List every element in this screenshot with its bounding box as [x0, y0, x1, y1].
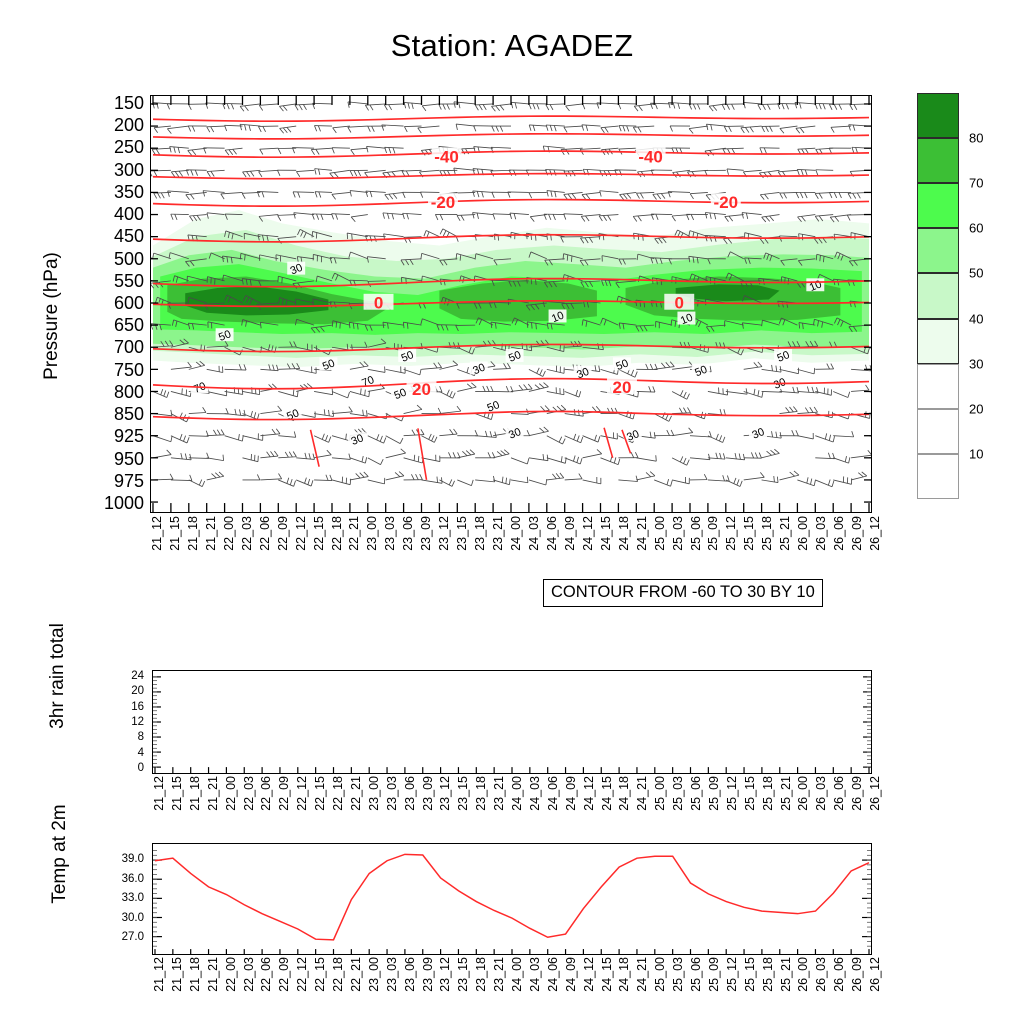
temp-y-axis-label: Temp at 2m — [49, 744, 71, 964]
x-tick-label: 22_21 — [349, 776, 363, 811]
x-tick-label: 26_00 — [796, 776, 810, 811]
main-y-axis-ticks: 1502002503003504004505005506006507007508… — [98, 95, 144, 513]
colorbar-tick: 30 — [969, 356, 983, 371]
x-tick-label: 24_00 — [510, 957, 524, 992]
x-tick-label: 23_00 — [367, 776, 381, 811]
x-tick-label: 25_00 — [653, 776, 667, 811]
rain-y-axis-ticks: 24201612840 — [100, 670, 148, 774]
svg-text:-40: -40 — [434, 147, 458, 166]
x-tick-label: 25_03 — [671, 516, 685, 551]
rain-y-tick: 8 — [138, 731, 144, 743]
page-title: Station: AGADEZ — [0, 28, 1024, 64]
x-tick-label: 23_09 — [421, 957, 435, 992]
x-tick-label: 21_15 — [170, 957, 184, 992]
x-tick-label: 23_15 — [456, 957, 470, 992]
svg-text:-40: -40 — [638, 147, 662, 166]
x-tick-label: 24_15 — [599, 516, 613, 551]
rain-y-tick: 20 — [131, 685, 144, 697]
x-tick-label: 26_03 — [814, 957, 828, 992]
main-y-tick: 500 — [100, 250, 144, 268]
x-tick-label: 22_09 — [277, 957, 291, 992]
x-tick-label: 22_18 — [330, 516, 344, 551]
x-tick-label: 26_12 — [868, 957, 882, 992]
x-tick-label: 22_06 — [258, 516, 272, 551]
x-tick-label: 24_18 — [617, 516, 631, 551]
main-y-tick: 925 — [100, 427, 144, 445]
main-y-tick: 600 — [100, 294, 144, 312]
x-tick-label: 23_06 — [403, 776, 417, 811]
temp-plot-canvas — [153, 844, 871, 954]
main-y-tick: 1000 — [100, 494, 144, 512]
main-y-axis-label: Pressure (hPa) — [41, 166, 63, 466]
colorbar-band — [917, 138, 959, 183]
colorbar-tick: 40 — [969, 311, 983, 326]
x-tick-label: 25_15 — [743, 957, 757, 992]
x-tick-label: 26_00 — [796, 957, 810, 992]
x-tick-label: 22_21 — [347, 516, 361, 551]
x-tick-label: 24_12 — [581, 516, 595, 551]
x-tick-label: 23_21 — [492, 957, 506, 992]
x-tick-label: 23_18 — [473, 516, 487, 551]
x-tick-label: 23_00 — [367, 957, 381, 992]
x-tick-label: 24_12 — [582, 776, 596, 811]
x-tick-label: 21_12 — [152, 776, 166, 811]
x-tick-label: 25_03 — [671, 957, 685, 992]
colorbar-tick: 80 — [969, 131, 983, 146]
x-tick-label: 22_12 — [295, 776, 309, 811]
colorbar-band — [917, 93, 959, 138]
x-tick-label: 22_03 — [240, 516, 254, 551]
x-tick-label: 26_03 — [814, 776, 828, 811]
x-tick-label: 23_06 — [401, 516, 415, 551]
temp-y-tick: 36.0 — [122, 873, 144, 885]
main-y-tick: 150 — [100, 94, 144, 112]
x-tick-label: 22_00 — [222, 516, 236, 551]
x-tick-label: 24_00 — [510, 776, 524, 811]
x-tick-label: 24_03 — [527, 516, 541, 551]
x-tick-label: 21_15 — [168, 516, 182, 551]
x-tick-label: 23_18 — [474, 776, 488, 811]
rain-plot-canvas — [153, 671, 871, 773]
x-tick-label: 24_21 — [635, 957, 649, 992]
x-tick-label: 23_09 — [421, 776, 435, 811]
x-tick-label: 24_15 — [600, 957, 614, 992]
x-tick-label: 22_03 — [242, 776, 256, 811]
temp-y-tick: 39.0 — [122, 853, 144, 865]
x-tick-label: 22_09 — [276, 516, 290, 551]
x-tick-label: 26_06 — [832, 516, 846, 551]
x-tick-label: 24_09 — [563, 516, 577, 551]
colorbar-band — [917, 228, 959, 273]
rain-x-axis-ticks: 21_1221_1521_1821_2122_0022_0322_0622_09… — [152, 776, 872, 834]
x-tick-label: 24_12 — [582, 957, 596, 992]
x-tick-label: 25_00 — [653, 516, 667, 551]
x-tick-label: 25_06 — [689, 957, 703, 992]
x-tick-label: 22_09 — [277, 776, 291, 811]
x-tick-label: 25_21 — [778, 516, 792, 551]
x-tick-label: 23_18 — [474, 957, 488, 992]
x-tick-label: 21_21 — [204, 516, 218, 551]
x-tick-label: 23_03 — [385, 957, 399, 992]
x-tick-label: 25_09 — [706, 516, 720, 551]
x-tick-label: 25_12 — [725, 957, 739, 992]
svg-text:-20: -20 — [714, 193, 738, 212]
colorbar-band — [917, 183, 959, 228]
colorbar-band — [917, 273, 959, 318]
main-y-tick: 450 — [100, 227, 144, 245]
main-y-tick: 200 — [100, 116, 144, 134]
x-tick-label: 26_09 — [850, 776, 864, 811]
main-y-tick: 550 — [100, 272, 144, 290]
x-tick-label: 23_21 — [492, 776, 506, 811]
x-tick-label: 25_03 — [671, 776, 685, 811]
x-tick-label: 24_06 — [546, 957, 560, 992]
x-tick-label: 25_18 — [761, 957, 775, 992]
rain-y-tick: 16 — [131, 701, 144, 713]
x-tick-label: 25_18 — [761, 776, 775, 811]
colorbar-tick: 10 — [969, 446, 983, 461]
x-tick-label: 22_15 — [312, 516, 326, 551]
colorbar-band — [917, 409, 959, 454]
x-tick-label: 25_15 — [742, 516, 756, 551]
svg-text:-20: -20 — [431, 193, 455, 212]
x-tick-label: 24_18 — [617, 957, 631, 992]
x-tick-label: 24_15 — [600, 776, 614, 811]
x-tick-label: 26_00 — [796, 516, 810, 551]
x-tick-label: 25_09 — [707, 957, 721, 992]
svg-text:20: 20 — [412, 380, 431, 399]
x-tick-label: 26_03 — [814, 516, 828, 551]
temp-2m-plot[interactable] — [152, 843, 872, 955]
colorbar-tick: 60 — [969, 221, 983, 236]
time-height-cross-section-plot[interactable]: 3030303010101050505050505050505050303030… — [150, 95, 872, 513]
x-tick-label: 23_00 — [365, 516, 379, 551]
main-y-tick: 350 — [100, 183, 144, 201]
x-tick-label: 23_06 — [403, 957, 417, 992]
rain-y-tick: 24 — [131, 670, 144, 682]
rain-total-plot[interactable] — [152, 670, 872, 774]
x-tick-label: 24_00 — [509, 516, 523, 551]
svg-text:0: 0 — [374, 294, 383, 313]
colorbar-tick: 50 — [969, 266, 983, 281]
x-tick-label: 24_09 — [564, 776, 578, 811]
x-tick-label: 25_06 — [689, 516, 703, 551]
x-tick-label: 26_06 — [832, 776, 846, 811]
x-tick-label: 24_18 — [617, 776, 631, 811]
x-tick-label: 23_09 — [419, 516, 433, 551]
x-tick-label: 23_12 — [438, 776, 452, 811]
x-tick-label: 22_15 — [313, 957, 327, 992]
x-tick-label: 25_15 — [743, 776, 757, 811]
colorbar-tick: 70 — [969, 176, 983, 191]
temp-y-tick: 33.0 — [122, 892, 144, 904]
temp-x-axis-ticks: 21_1221_1521_1821_2122_0022_0322_0622_09… — [152, 957, 872, 1015]
x-tick-label: 25_00 — [653, 957, 667, 992]
x-tick-label: 23_21 — [491, 516, 505, 551]
x-tick-label: 23_03 — [383, 516, 397, 551]
x-tick-label: 23_12 — [438, 957, 452, 992]
x-tick-label: 24_21 — [635, 516, 649, 551]
x-tick-label: 21_21 — [206, 957, 220, 992]
x-tick-label: 22_06 — [259, 957, 273, 992]
svg-text:20: 20 — [613, 378, 632, 397]
main-y-tick: 750 — [100, 361, 144, 379]
x-tick-label: 24_03 — [528, 776, 542, 811]
main-y-tick: 850 — [100, 405, 144, 423]
x-tick-label: 21_18 — [186, 516, 200, 551]
x-tick-label: 25_21 — [779, 957, 793, 992]
x-tick-label: 26_12 — [868, 776, 882, 811]
x-tick-label: 22_00 — [224, 776, 238, 811]
x-tick-label: 23_03 — [385, 776, 399, 811]
colorbar-band — [917, 319, 959, 364]
x-tick-label: 22_03 — [242, 957, 256, 992]
x-tick-label: 24_06 — [545, 516, 559, 551]
x-tick-label: 23_12 — [437, 516, 451, 551]
x-tick-label: 21_12 — [150, 516, 164, 551]
x-tick-label: 25_12 — [725, 776, 739, 811]
x-tick-label: 22_12 — [295, 957, 309, 992]
rain-y-tick: 12 — [131, 716, 144, 728]
x-tick-label: 22_12 — [294, 516, 308, 551]
svg-text:0: 0 — [675, 294, 684, 313]
main-y-tick: 300 — [100, 161, 144, 179]
x-tick-label: 25_18 — [760, 516, 774, 551]
x-tick-label: 26_12 — [868, 516, 882, 551]
x-tick-label: 24_06 — [546, 776, 560, 811]
x-tick-label: 21_21 — [206, 776, 220, 811]
x-tick-label: 22_18 — [331, 776, 345, 811]
x-tick-label: 24_03 — [528, 957, 542, 992]
x-tick-label: 23_15 — [456, 776, 470, 811]
x-tick-label: 24_21 — [635, 776, 649, 811]
x-tick-label: 24_09 — [564, 957, 578, 992]
x-tick-label: 25_09 — [707, 776, 721, 811]
x-tick-label: 23_15 — [455, 516, 469, 551]
main-y-tick: 975 — [100, 472, 144, 490]
x-tick-label: 22_15 — [313, 776, 327, 811]
main-y-tick: 800 — [100, 383, 144, 401]
x-tick-label: 22_21 — [349, 957, 363, 992]
rain-y-tick: 4 — [138, 747, 144, 759]
x-tick-label: 21_18 — [188, 957, 202, 992]
x-tick-label: 25_21 — [779, 776, 793, 811]
humidity-colorbar: 1020304050607080 — [917, 93, 959, 499]
x-tick-label: 22_06 — [259, 776, 273, 811]
main-y-tick: 250 — [100, 138, 144, 156]
x-tick-label: 21_12 — [152, 957, 166, 992]
main-y-tick: 700 — [100, 338, 144, 356]
main-y-tick: 950 — [100, 450, 144, 468]
x-tick-label: 26_06 — [832, 957, 846, 992]
x-tick-label: 21_18 — [188, 776, 202, 811]
colorbar-band — [917, 454, 959, 499]
x-tick-label: 25_12 — [724, 516, 738, 551]
x-tick-label: 26_09 — [850, 516, 864, 551]
x-tick-label: 26_09 — [850, 957, 864, 992]
colorbar-tick: 20 — [969, 401, 983, 416]
colorbar-band — [917, 364, 959, 409]
temp-y-tick: 30.0 — [122, 912, 144, 924]
temp-y-axis-ticks: 27.030.033.036.039.0 — [96, 843, 148, 955]
main-x-axis-ticks: 21_1221_1521_1821_2122_0022_0322_0622_09… — [150, 516, 872, 578]
x-tick-label: 22_00 — [224, 957, 238, 992]
x-tick-label: 22_18 — [331, 957, 345, 992]
x-tick-label: 25_06 — [689, 776, 703, 811]
main-y-tick: 650 — [100, 316, 144, 334]
x-tick-label: 21_15 — [170, 776, 184, 811]
rain-y-tick: 0 — [138, 762, 144, 774]
main-plot-canvas: 3030303010101050505050505050505050303030… — [151, 96, 871, 512]
temp-y-tick: 27.0 — [122, 931, 144, 943]
contour-note: CONTOUR FROM -60 TO 30 BY 10 — [543, 579, 823, 607]
main-y-tick: 400 — [100, 205, 144, 223]
